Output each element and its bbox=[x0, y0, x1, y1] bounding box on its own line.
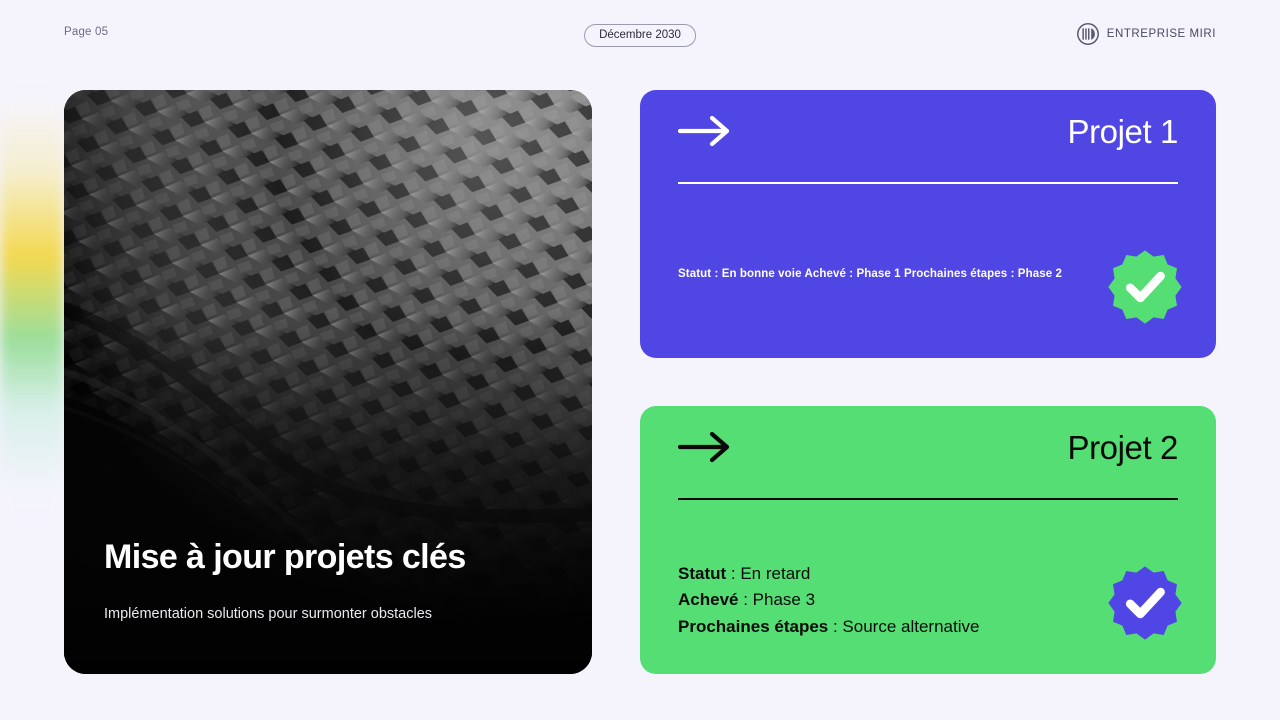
status-value: Source alternative bbox=[842, 617, 979, 636]
hero-text-block: Mise à jour projets clés Implémentation … bbox=[104, 538, 552, 624]
card-status-text-projet-1: Statut : En bonne voie Achevé : Phase 1 … bbox=[678, 268, 1062, 280]
page-number-label: Page 05 bbox=[64, 26, 108, 38]
company-logo-icon bbox=[1076, 22, 1100, 46]
status-label: Statut bbox=[678, 564, 726, 583]
verified-check-icon-projet-2 bbox=[1106, 564, 1184, 642]
status-row: Statut : En retard bbox=[678, 561, 979, 587]
arrow-right-icon[interactable] bbox=[678, 430, 732, 464]
status-row: Prochaines étapes : Source alternative bbox=[678, 614, 979, 640]
left-edge-gradient-decoration bbox=[0, 96, 64, 516]
project-card-projet-2[interactable]: Projet 2 Statut : En retard Achevé : Pha… bbox=[640, 406, 1216, 674]
status-value: En retard bbox=[740, 564, 810, 583]
card-status-list-projet-2: Statut : En retard Achevé : Phase 3 Proc… bbox=[678, 561, 979, 640]
card-header-projet-2: Projet 2 bbox=[678, 430, 1178, 464]
status-label: Achevé bbox=[678, 590, 738, 609]
status-label: Prochaines étapes bbox=[678, 617, 828, 636]
brand-lockup: ENTREPRISE MIRI bbox=[1076, 22, 1216, 46]
brand-name-label: ENTREPRISE MIRI bbox=[1107, 28, 1216, 40]
hero-title: Mise à jour projets clés bbox=[104, 538, 552, 576]
slide-root: Page 05 Décembre 2030 ENTREPRISE MIRI bbox=[0, 0, 1280, 720]
card-divider-projet-2 bbox=[678, 498, 1178, 500]
slide-header: Page 05 Décembre 2030 ENTREPRISE MIRI bbox=[0, 0, 1280, 70]
hero-subtitle: Implémentation solutions pour surmonter … bbox=[104, 604, 552, 624]
project-card-projet-1[interactable]: Projet 1 Statut : En bonne voie Achevé :… bbox=[640, 90, 1216, 358]
arrow-right-icon[interactable] bbox=[678, 114, 732, 148]
verified-check-icon-projet-1 bbox=[1106, 248, 1184, 326]
card-title-projet-1: Projet 1 bbox=[1067, 115, 1178, 148]
card-header-projet-1: Projet 1 bbox=[678, 114, 1178, 148]
status-value: Phase 3 bbox=[753, 590, 815, 609]
status-row: Achevé : Phase 3 bbox=[678, 587, 979, 613]
card-title-projet-2: Projet 2 bbox=[1067, 431, 1178, 464]
date-pill-badge: Décembre 2030 bbox=[584, 24, 696, 47]
hero-image-card: Mise à jour projets clés Implémentation … bbox=[64, 90, 592, 674]
card-divider-projet-1 bbox=[678, 182, 1178, 184]
